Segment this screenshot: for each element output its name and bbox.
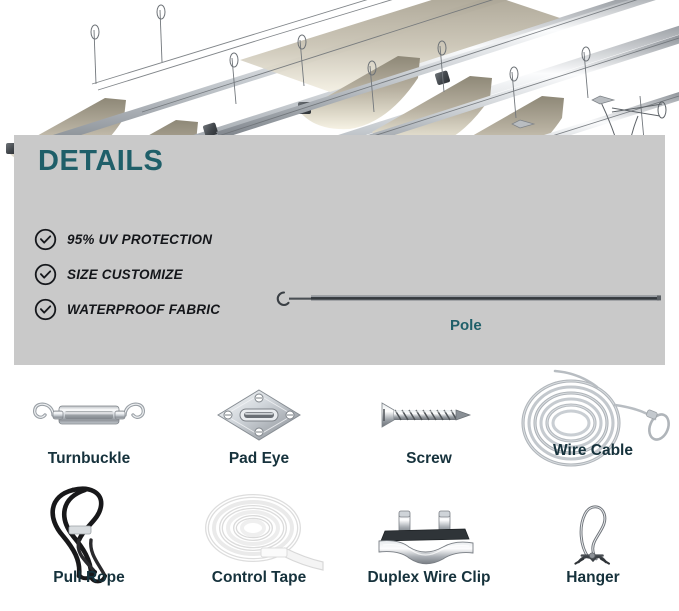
accessory-item-turnbuckle: Turnbuckle xyxy=(4,372,174,491)
accessory-item-control-tape: Control Tape xyxy=(174,491,344,610)
details-panel: DETAILS 95% UV PROTECTION SIZE CUSTOMIZE… xyxy=(14,135,665,365)
accessory-label: Pad Eye xyxy=(174,450,344,468)
accessory-item-screw: Screw xyxy=(344,372,514,491)
accessory-label: Pull Rope xyxy=(4,569,174,587)
check-circle-icon xyxy=(34,228,57,251)
pole-item: Pole xyxy=(264,283,664,343)
hanger-clip-icon xyxy=(525,500,661,569)
control-tape-icon xyxy=(174,491,344,577)
check-circle-icon xyxy=(34,298,57,321)
feature-item-uv-protection: 95% UV PROTECTION xyxy=(34,223,334,255)
pole-rod-icon xyxy=(264,283,664,317)
page-title: DETAILS xyxy=(38,147,163,176)
feature-label: 95% UV PROTECTION xyxy=(67,232,212,247)
duplex-wire-clip-icon xyxy=(344,491,514,577)
accessory-item-hanger: Hanger xyxy=(508,491,678,610)
accessory-label: Control Tape xyxy=(174,569,344,587)
accessory-item-wire-cable: Wire Cable xyxy=(508,372,678,491)
accessory-label: Turnbuckle xyxy=(4,450,174,468)
accessory-item-pull-rope: Pull Rope xyxy=(4,491,174,610)
accessory-label: Duplex Wire Clip xyxy=(344,569,514,587)
feature-label: SIZE CUSTOMIZE xyxy=(67,267,183,282)
accessory-label: Hanger xyxy=(508,569,678,587)
accessory-label: Screw xyxy=(344,450,514,468)
turnbuckle-icon xyxy=(4,372,174,458)
accessory-grid: Turnbuckle xyxy=(0,372,679,611)
pad-eye-icon xyxy=(174,372,344,458)
check-circle-icon xyxy=(34,263,57,286)
pull-rope-icon xyxy=(4,491,174,577)
accessory-item-duplex-wire-clip: Duplex Wire Clip xyxy=(344,491,514,610)
screw-icon xyxy=(344,372,514,458)
accessory-item-pad-eye: Pad Eye xyxy=(174,372,344,491)
feature-label: WATERPROOF FABRIC xyxy=(67,302,220,317)
pole-label: Pole xyxy=(450,317,482,334)
accessory-label: Wire Cable xyxy=(508,442,678,460)
